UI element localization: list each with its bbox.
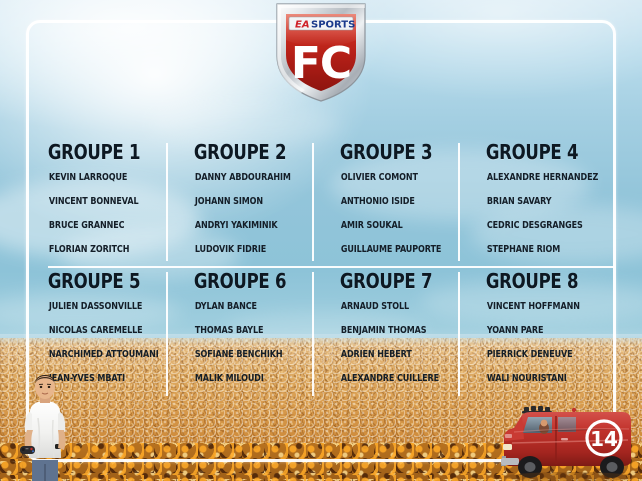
poster-stage: EA SPORTS FC GROUPE 1 KEVIN LARROQUE VIN… [0, 0, 642, 481]
player-name: ALEXANDRE HERNANDEZ [484, 173, 621, 183]
player-name: PIERRICK DENEUVE [484, 350, 621, 360]
player-name: BRUCE GRANNEC [46, 221, 183, 231]
column-divider [458, 272, 460, 396]
group-title: GROUPE 7 [338, 269, 472, 293]
player-name: AMIR SOUKAL [338, 221, 475, 231]
player-name: SOFIANE BENCHIKH [192, 350, 329, 360]
player-name: FLORIAN ZORITCH [46, 245, 183, 255]
player-name: WALI NOURISTANI [484, 374, 621, 384]
group-title: GROUPE 5 [46, 269, 180, 293]
group-title: GROUPE 8 [484, 269, 618, 293]
player-name: BRIAN SAVARY [484, 197, 621, 207]
player-name: JOHANN SIMON [192, 197, 329, 207]
player-photo-person [14, 372, 76, 481]
player-name: THOMAS BAYLE [192, 326, 329, 336]
column-divider [166, 143, 168, 261]
player-name: YOANN PARE [484, 326, 621, 336]
grid-column: GROUPE 4 ALEXANDRE HERNANDEZ BRIAN SAVAR… [484, 140, 630, 398]
player-name: ARNAUD STOLL [338, 302, 475, 312]
player-name: GUILLAUME PAUPORTE [338, 245, 475, 255]
column-divider [458, 143, 460, 261]
group-cell: GROUPE 7 ARNAUD STOLL BENJAMIN THOMAS AD… [338, 269, 484, 398]
group-cell: GROUPE 6 DYLAN BANCE THOMAS BAYLE SOFIAN… [192, 269, 338, 398]
player-name: VINCENT HOFFMANN [484, 302, 621, 312]
row-divider [48, 266, 614, 268]
van-number: 14 [590, 427, 618, 451]
column-divider [312, 143, 314, 261]
grid-column: GROUPE 2 DANNY ABDOURAHIM JOHANN SIMON A… [192, 140, 338, 398]
grid-column: GROUPE 3 OLIVIER COMONT ANTHONIO ISIDE A… [338, 140, 484, 398]
team-van: 14 [492, 398, 642, 481]
grid-column: GROUPE 1 KEVIN LARROQUE VINCENT BONNEVAL… [46, 140, 192, 398]
group-cell: GROUPE 4 ALEXANDRE HERNANDEZ BRIAN SAVAR… [484, 140, 630, 269]
group-title: GROUPE 1 [46, 140, 180, 164]
player-name: BENJAMIN THOMAS [338, 326, 475, 336]
group-cell: GROUPE 8 VINCENT HOFFMANN YOANN PARE PIE… [484, 269, 630, 398]
player-name: STEPHANE RIOM [484, 245, 621, 255]
player-name: CEDRIC DESGRANGES [484, 221, 621, 231]
player-name: ANDRYI YAKIMINIK [192, 221, 329, 231]
player-name: NICOLAS CAREMELLE [46, 326, 183, 336]
player-name: ADRIEN HEBERT [338, 350, 475, 360]
player-name: JULIEN DASSONVILLE [46, 302, 183, 312]
player-name: DANNY ABDOURAHIM [192, 173, 329, 183]
svg-text:FC: FC [291, 38, 351, 89]
group-cell: GROUPE 3 OLIVIER COMONT ANTHONIO ISIDE A… [338, 140, 484, 269]
player-name: VINCENT BONNEVAL [46, 197, 183, 207]
group-cell: GROUPE 1 KEVIN LARROQUE VINCENT BONNEVAL… [46, 140, 192, 269]
groups-grid: GROUPE 1 KEVIN LARROQUE VINCENT BONNEVAL… [46, 140, 616, 398]
player-name: NARCHIMED ATTOUMANI [46, 350, 183, 360]
group-title: GROUPE 6 [192, 269, 326, 293]
column-divider [312, 272, 314, 396]
player-name: DYLAN BANCE [192, 302, 329, 312]
ea-sports-fc-logo: EA SPORTS FC [271, 0, 371, 104]
player-name: OLIVIER COMONT [338, 173, 475, 183]
group-title: GROUPE 3 [338, 140, 472, 164]
group-cell: GROUPE 2 DANNY ABDOURAHIM JOHANN SIMON A… [192, 140, 338, 269]
group-title: GROUPE 2 [192, 140, 326, 164]
column-divider [166, 272, 168, 396]
player-name: ANTHONIO ISIDE [338, 197, 475, 207]
svg-text:EA: EA [295, 19, 310, 30]
group-title: GROUPE 4 [484, 140, 618, 164]
svg-text:SPORTS: SPORTS [311, 19, 355, 30]
player-name: ALEXANDRE CUILLERE [338, 374, 475, 384]
player-name: KEVIN LARROQUE [46, 173, 183, 183]
player-name: LUDOVIK FIDRIE [192, 245, 329, 255]
player-name: MALIK MILOUDI [192, 374, 329, 384]
